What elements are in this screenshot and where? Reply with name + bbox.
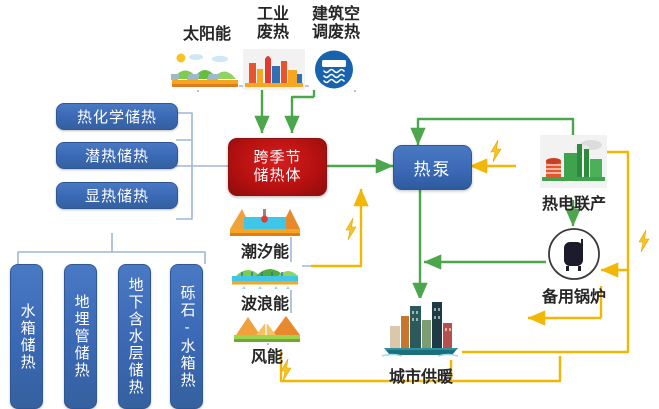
heat-pump-box[interactable]: 热泵: [393, 145, 472, 190]
line-renewables-trunk-right: [361, 209, 466, 266]
plant-label-chp: 热电联产: [528, 190, 620, 214]
storage-type-latent[interactable]: 潜热储热: [56, 142, 178, 169]
air-conditioner-icon: [309, 49, 359, 90]
seasonal-store-line2: 储热体: [253, 167, 301, 184]
bracket-sensible-subtypes: [18, 252, 205, 264]
source-label-industrial-line2: 废热: [257, 24, 289, 41]
lightning-bolt-icon-bottom-left: [279, 359, 293, 381]
arrow-sources-to-store-b: [292, 97, 314, 133]
source-label-industrial-line1: 工业: [257, 6, 289, 23]
plant-label-boiler: 备用锅炉: [528, 283, 620, 307]
sensible-subtype-aquifer[interactable]: 地下含水层储热: [118, 264, 151, 409]
tidal-power-icon: [228, 205, 302, 237]
boiler-tank-icon: [546, 228, 602, 281]
renewable-label-wave: 波浪能: [228, 290, 302, 314]
source-label-building-line2: 调废热: [312, 24, 360, 41]
power-plant-icon: [540, 135, 607, 188]
renewable-label-tidal: 潮汐能: [228, 238, 302, 262]
city-skyline-icon: [380, 298, 462, 360]
source-label-building-hvac: 建筑空 调废热: [301, 6, 371, 42]
seasonal-thermal-store[interactable]: 跨季节 储热体: [228, 138, 327, 196]
lightning-bolt-icon-chp-left: [489, 140, 503, 162]
sensible-subtype-water-tank[interactable]: 水箱储热: [10, 264, 43, 409]
wave-power-icon: [228, 262, 302, 290]
source-label-building-line1: 建筑空: [312, 6, 360, 23]
lightning-bolt-icon-renewables: [344, 218, 358, 240]
bracket-storage-types: [176, 113, 192, 219]
sensible-subtype-borehole[interactable]: 地埋管储热: [64, 264, 97, 409]
lightning-bolt-icon-right-edge: [637, 230, 651, 252]
demand-label-city-heating: 城市供暖: [372, 363, 470, 387]
factory-icon: [243, 49, 305, 90]
diagram-canvas: 太阳能 工业 废热 建筑空 调废热: [0, 0, 659, 404]
wind-turbine-icon: [232, 313, 302, 343]
storage-type-thermochemical[interactable]: 热化学储热: [56, 103, 178, 130]
source-label-solar: 太阳能: [168, 26, 246, 44]
solar-field-icon: [171, 49, 239, 90]
storage-type-sensible[interactable]: 显热储热: [56, 182, 178, 209]
sensible-subtype-gravel-water[interactable]: 砾石-水箱热: [170, 264, 203, 409]
seasonal-store-line1: 跨季节: [253, 149, 301, 166]
source-label-industrial: 工业 废热: [247, 6, 299, 42]
